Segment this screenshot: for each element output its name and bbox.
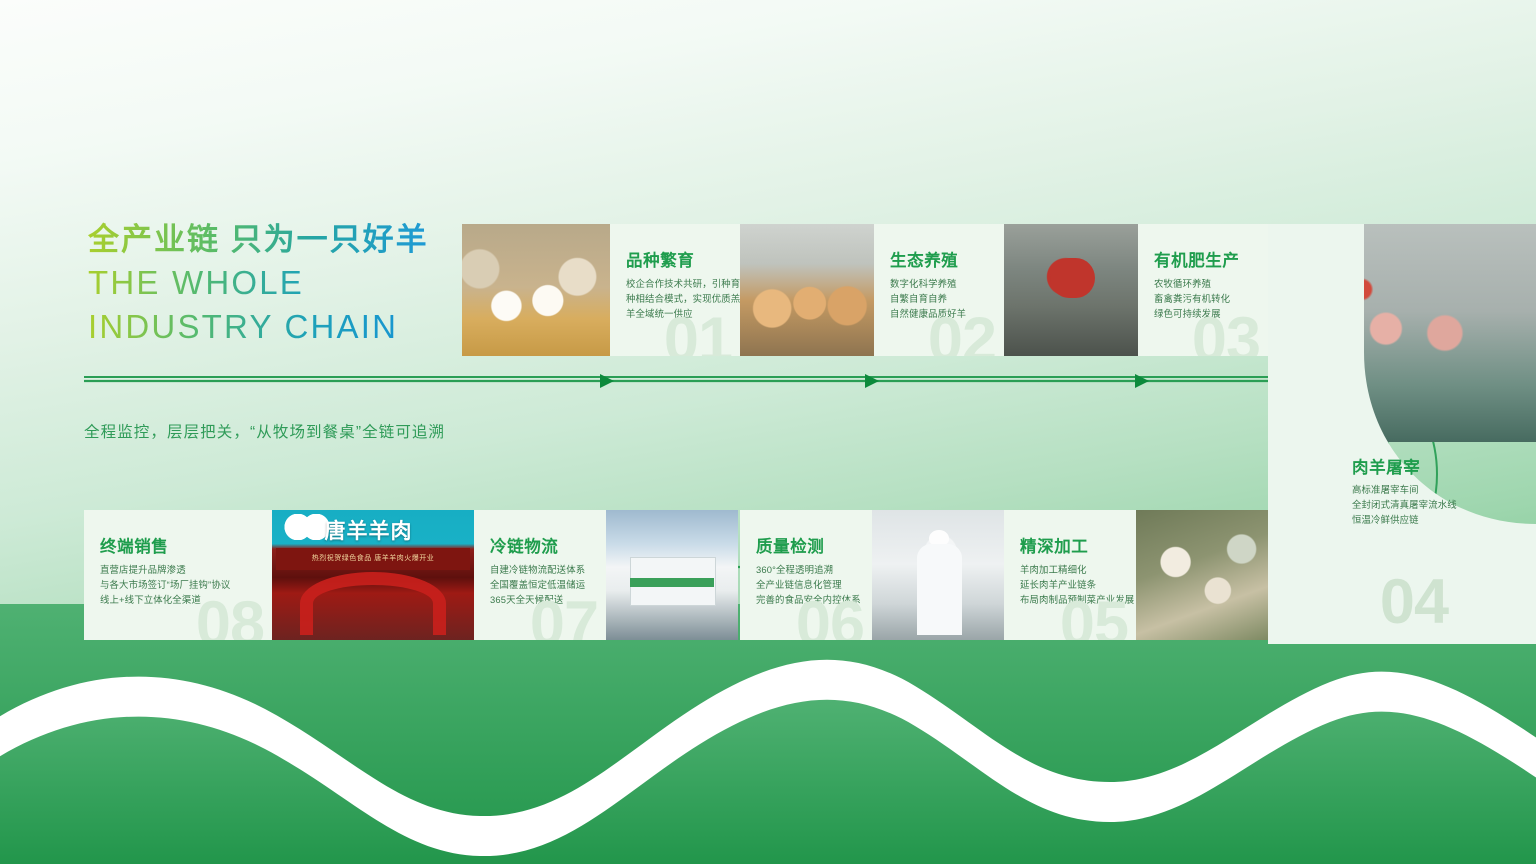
- step-number: 02: [928, 309, 996, 356]
- step-title: 肉羊屠宰: [1352, 454, 1420, 478]
- step-title: 终端销售: [100, 533, 168, 557]
- store-sign-text: 唐羊羊肉: [325, 515, 413, 545]
- step-number: 03: [1192, 309, 1260, 356]
- step-card-04[interactable]: 肉羊屠宰 高标准屠宰车间全封闭式清真屠宰流水线恒温冷鲜供应链 04: [1340, 440, 1536, 640]
- slaughter-line-photo: [1268, 224, 1536, 442]
- headline-english-line2: INDUSTRY CHAIN: [88, 307, 429, 347]
- headline-chinese: 全产业链 只为一只好羊: [88, 222, 429, 259]
- step-card-02[interactable]: 生态养殖 数字化科学养殖自繁自育自养自然健康品质好羊 02: [874, 224, 1004, 356]
- step-title: 品种繁育: [626, 247, 694, 271]
- fertilizer-drum-shape: [1050, 258, 1096, 298]
- retail-store-photo: 唐羊羊肉 热烈祝贺绿色食品 唐羊羊肉火爆开业: [272, 510, 474, 640]
- bottom-wave-decoration: [0, 604, 1536, 864]
- lab-inspection-photo: [872, 510, 1004, 640]
- store-mascot-icon: [284, 514, 330, 540]
- step-number: 08: [196, 593, 264, 640]
- step-card-06[interactable]: 质量检测 360°全程透明追溯全产业链信息化管理完善的食品安全内控体系 06: [740, 510, 872, 640]
- cold-chain-truck-photo: [606, 510, 738, 640]
- balloon-arch-shape: [300, 572, 445, 634]
- step-card-03[interactable]: 有机肥生产 农牧循环养殖畜禽粪污有机转化绿色可持续发展 03: [1138, 224, 1268, 356]
- store-banner-text: 热烈祝贺绿色食品 唐羊羊肉火爆开业: [276, 553, 470, 563]
- fertilizer-machine-photo: [1004, 224, 1138, 356]
- step-card-07[interactable]: 冷链物流 自建冷链物流配送体系全国覆盖恒定低温储运365天全天候配送 07: [474, 510, 606, 640]
- step-title: 生态养殖: [890, 247, 958, 271]
- step-card-08[interactable]: 终端销售 直营店提升品牌渗透与各大市场签订“场厂挂钩”协议线上+线下立体化全渠道…: [84, 510, 272, 640]
- step-title: 精深加工: [1020, 533, 1088, 557]
- step-description: 高标准屠宰车间全封闭式清真屠宰流水线恒温冷鲜供应链: [1352, 482, 1457, 528]
- step-number: 01: [664, 309, 732, 356]
- step-number: 05: [1060, 593, 1128, 640]
- lab-coat-shape: [917, 544, 962, 635]
- infographic-canvas: 全产业链 只为一只好羊 THE WHOLE INDUSTRY CHAIN 全程监…: [0, 0, 1536, 864]
- step-number: 07: [530, 593, 598, 640]
- step-title: 有机肥生产: [1154, 247, 1240, 271]
- headline-divider: [84, 376, 1300, 378]
- step-title: 冷链物流: [490, 533, 558, 557]
- step-number: 04: [1380, 571, 1448, 634]
- step-card-01[interactable]: 品种繁育 校企合作技术共研，引种育种相结合模式，实现优质羔羊全域统一供应 01: [610, 224, 740, 356]
- processed-meat-photo: [1136, 510, 1268, 640]
- headline-english-line1: THE WHOLE: [88, 263, 429, 303]
- lambs-photo: [462, 224, 610, 356]
- truck-stripe-shape: [630, 578, 714, 587]
- step-card-05[interactable]: 精深加工 羊肉加工精细化延长肉羊产业链条布局肉制品预制菜产业发展 05: [1004, 510, 1136, 640]
- store-banner: 热烈祝贺绿色食品 唐羊羊肉火爆开业: [276, 548, 470, 570]
- step-title: 质量检测: [756, 533, 824, 557]
- sheep-pen-photo: [740, 224, 874, 356]
- step-number: 06: [796, 593, 864, 640]
- subtitle-text: 全程监控，层层把关，“从牧场到餐桌”全链可追溯: [84, 420, 445, 442]
- headline-block: 全产业链 只为一只好羊 THE WHOLE INDUSTRY CHAIN: [88, 222, 429, 347]
